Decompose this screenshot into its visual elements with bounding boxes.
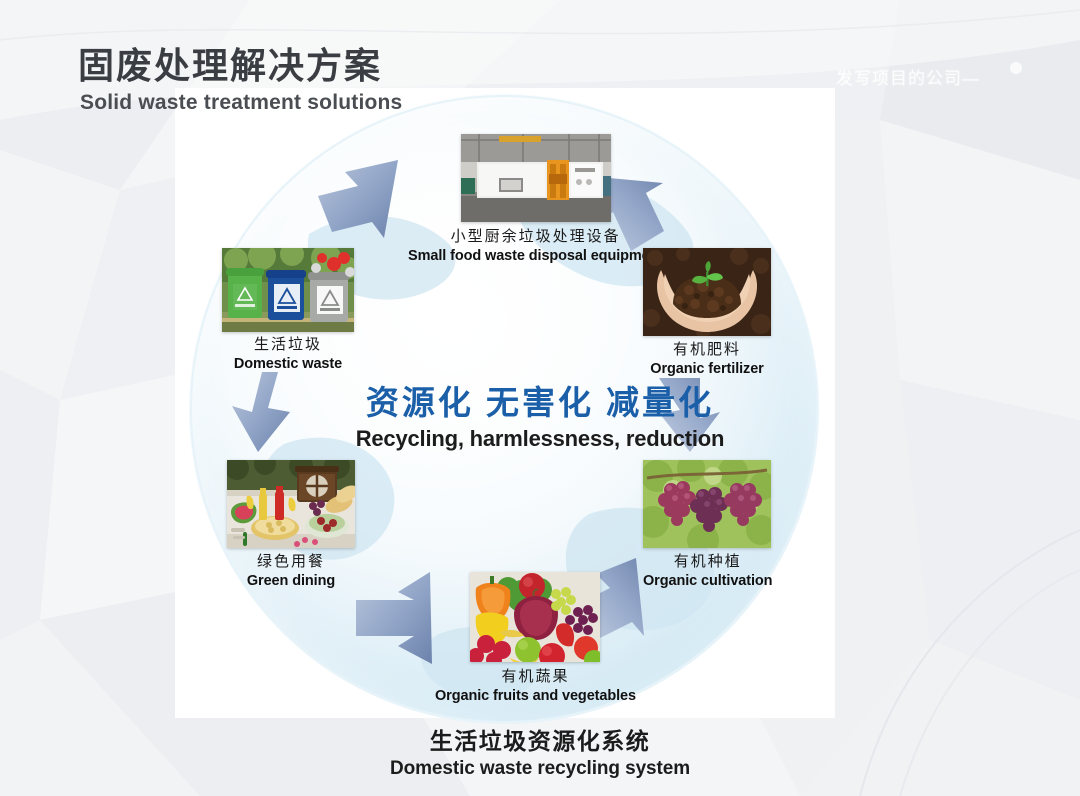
cycle-node-waste: 生活垃圾 Domestic waste xyxy=(222,248,354,374)
cycle-node-equipment: 小型厨余垃圾处理设备 Small food waste disposal equ… xyxy=(408,134,663,266)
page-title-en: Solid waste treatment solutions xyxy=(80,90,402,116)
cycle-node-waste-caption: 生活垃圾 Domestic waste xyxy=(222,335,354,374)
cycle-node-fertilizer-label-cn: 有机肥料 xyxy=(643,340,771,360)
grapes-on-vine-photo xyxy=(643,460,771,548)
hands-holding-soil-seedling-photo xyxy=(643,248,771,336)
cycle-node-equipment-label-cn: 小型厨余垃圾处理设备 xyxy=(408,227,663,247)
watermark-dot-icon xyxy=(1010,62,1022,74)
slogan-cn: 资源化 无害化 减量化 xyxy=(0,383,1080,423)
cycle-node-equipment-label-en: Small food waste disposal equipment xyxy=(408,247,663,266)
cycle-node-fertilizer-label-en: Organic fertilizer xyxy=(643,360,771,379)
picnic-table-food-photo xyxy=(227,460,355,548)
cycle-node-dining-label-cn: 绿色用餐 xyxy=(227,552,355,572)
slide-header: 固废处理解决方案 Solid waste treatment solutions xyxy=(78,44,402,116)
footer-caption-cn: 生活垃圾资源化系统 xyxy=(0,727,1080,756)
cycle-node-cultivation-label-en: Organic cultivation xyxy=(643,572,772,591)
cycle-node-waste-label-cn: 生活垃圾 xyxy=(222,335,354,355)
cycle-node-cultivation: 有机种植 Organic cultivation xyxy=(643,460,772,591)
slogan-en: Recycling, harmlessness, reduction xyxy=(0,424,1080,454)
cycle-node-produce-label-cn: 有机蔬果 xyxy=(435,667,636,687)
industrial-food-waste-machine-photo xyxy=(461,134,611,222)
three-recycling-bins-photo xyxy=(222,248,354,332)
footer-caption-en: Domestic waste recycling system xyxy=(0,756,1080,782)
cycle-node-produce-caption: 有机蔬果 Organic fruits and vegetables xyxy=(435,667,636,706)
watermark-text: 发写项目的公司— xyxy=(836,64,980,89)
cycle-node-fertilizer: 有机肥料 Organic fertilizer xyxy=(643,248,771,379)
cycle-node-cultivation-caption: 有机种植 Organic cultivation xyxy=(643,552,772,591)
cycle-node-equipment-caption: 小型厨余垃圾处理设备 Small food waste disposal equ… xyxy=(408,227,663,266)
cycle-node-cultivation-label-cn: 有机种植 xyxy=(643,552,772,572)
cycle-node-dining-label-en: Green dining xyxy=(227,572,355,591)
cycle-node-dining: 绿色用餐 Green dining xyxy=(227,460,355,591)
center-slogan: 资源化 无害化 减量化 Recycling, harmlessness, red… xyxy=(0,383,1080,454)
cycle-node-waste-label-en: Domestic waste xyxy=(222,355,354,374)
cycle-node-produce-label-en: Organic fruits and vegetables xyxy=(435,687,636,706)
cycle-node-fertilizer-caption: 有机肥料 Organic fertilizer xyxy=(643,340,771,379)
footer-caption: 生活垃圾资源化系统 Domestic waste recycling syste… xyxy=(0,727,1080,782)
fruits-and-vegetables-photo xyxy=(470,572,600,662)
cycle-node-dining-caption: 绿色用餐 Green dining xyxy=(227,552,355,591)
cycle-node-produce: 有机蔬果 Organic fruits and vegetables xyxy=(435,572,636,706)
page-title-cn: 固废处理解决方案 xyxy=(78,44,402,88)
